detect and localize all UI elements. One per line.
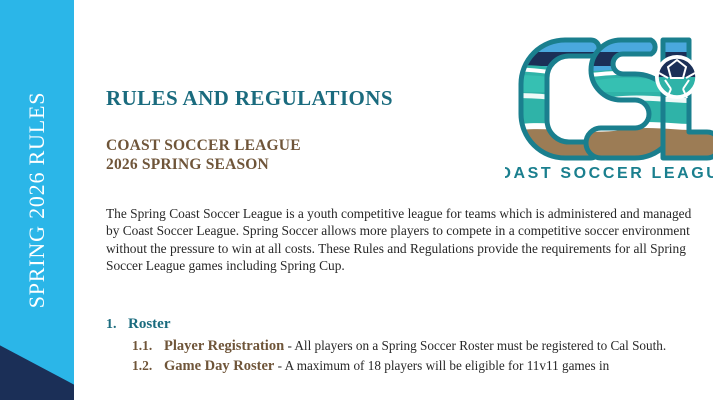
- subitem-term: Player Registration: [164, 338, 284, 354]
- subitem-body: Player Registration - All players on a S…: [164, 337, 706, 355]
- section-subitems: 1.1. Player Registration - All players o…: [106, 337, 706, 375]
- intro-paragraph: The Spring Coast Soccer League is a yout…: [106, 205, 701, 275]
- subitem-text: - All players on a Spring Soccer Roster …: [284, 338, 666, 353]
- subitem-text: - A maximum of 18 players will be eligib…: [274, 358, 609, 373]
- subtitle-line-organization: COAST SOCCER LEAGUE: [106, 136, 301, 155]
- section-heading-row: 1. Roster: [106, 316, 706, 333]
- list-item: 1.2. Game Day Roster - A maximum of 18 p…: [132, 357, 706, 375]
- csl-logo-graphic: COAST SOCCER LEAGUE: [505, 32, 713, 184]
- section-number: 1.: [106, 317, 119, 333]
- section-title: Roster: [128, 316, 170, 333]
- subtitle-line-season: 2026 SPRING SEASON: [106, 155, 301, 174]
- page-title: RULES AND REGULATIONS: [106, 86, 393, 111]
- document-page: SPRING 2026 RULES RULES AND REGULATIONS …: [0, 0, 720, 400]
- logo-wordmark: COAST SOCCER LEAGUE: [505, 165, 713, 182]
- csl-logo: COAST SOCCER LEAGUE: [505, 32, 713, 184]
- subitem-number: 1.2.: [132, 358, 158, 374]
- list-item: 1.1. Player Registration - All players o…: [132, 337, 706, 355]
- document-subtitle: COAST SOCCER LEAGUE 2026 SPRING SEASON: [106, 136, 301, 174]
- sidebar-vertical-label: SPRING 2026 RULES: [24, 92, 50, 309]
- subitem-term: Game Day Roster: [164, 358, 274, 374]
- subitem-body: Game Day Roster - A maximum of 18 player…: [164, 357, 706, 375]
- sidebar-navy-corner-shape: [0, 330, 74, 400]
- soccer-ball-icon: [655, 55, 699, 99]
- subitem-number: 1.1.: [132, 338, 158, 354]
- rules-list: 1. Roster 1.1. Player Registration - All…: [106, 316, 706, 377]
- sidebar-accent-bar: SPRING 2026 RULES: [0, 0, 74, 400]
